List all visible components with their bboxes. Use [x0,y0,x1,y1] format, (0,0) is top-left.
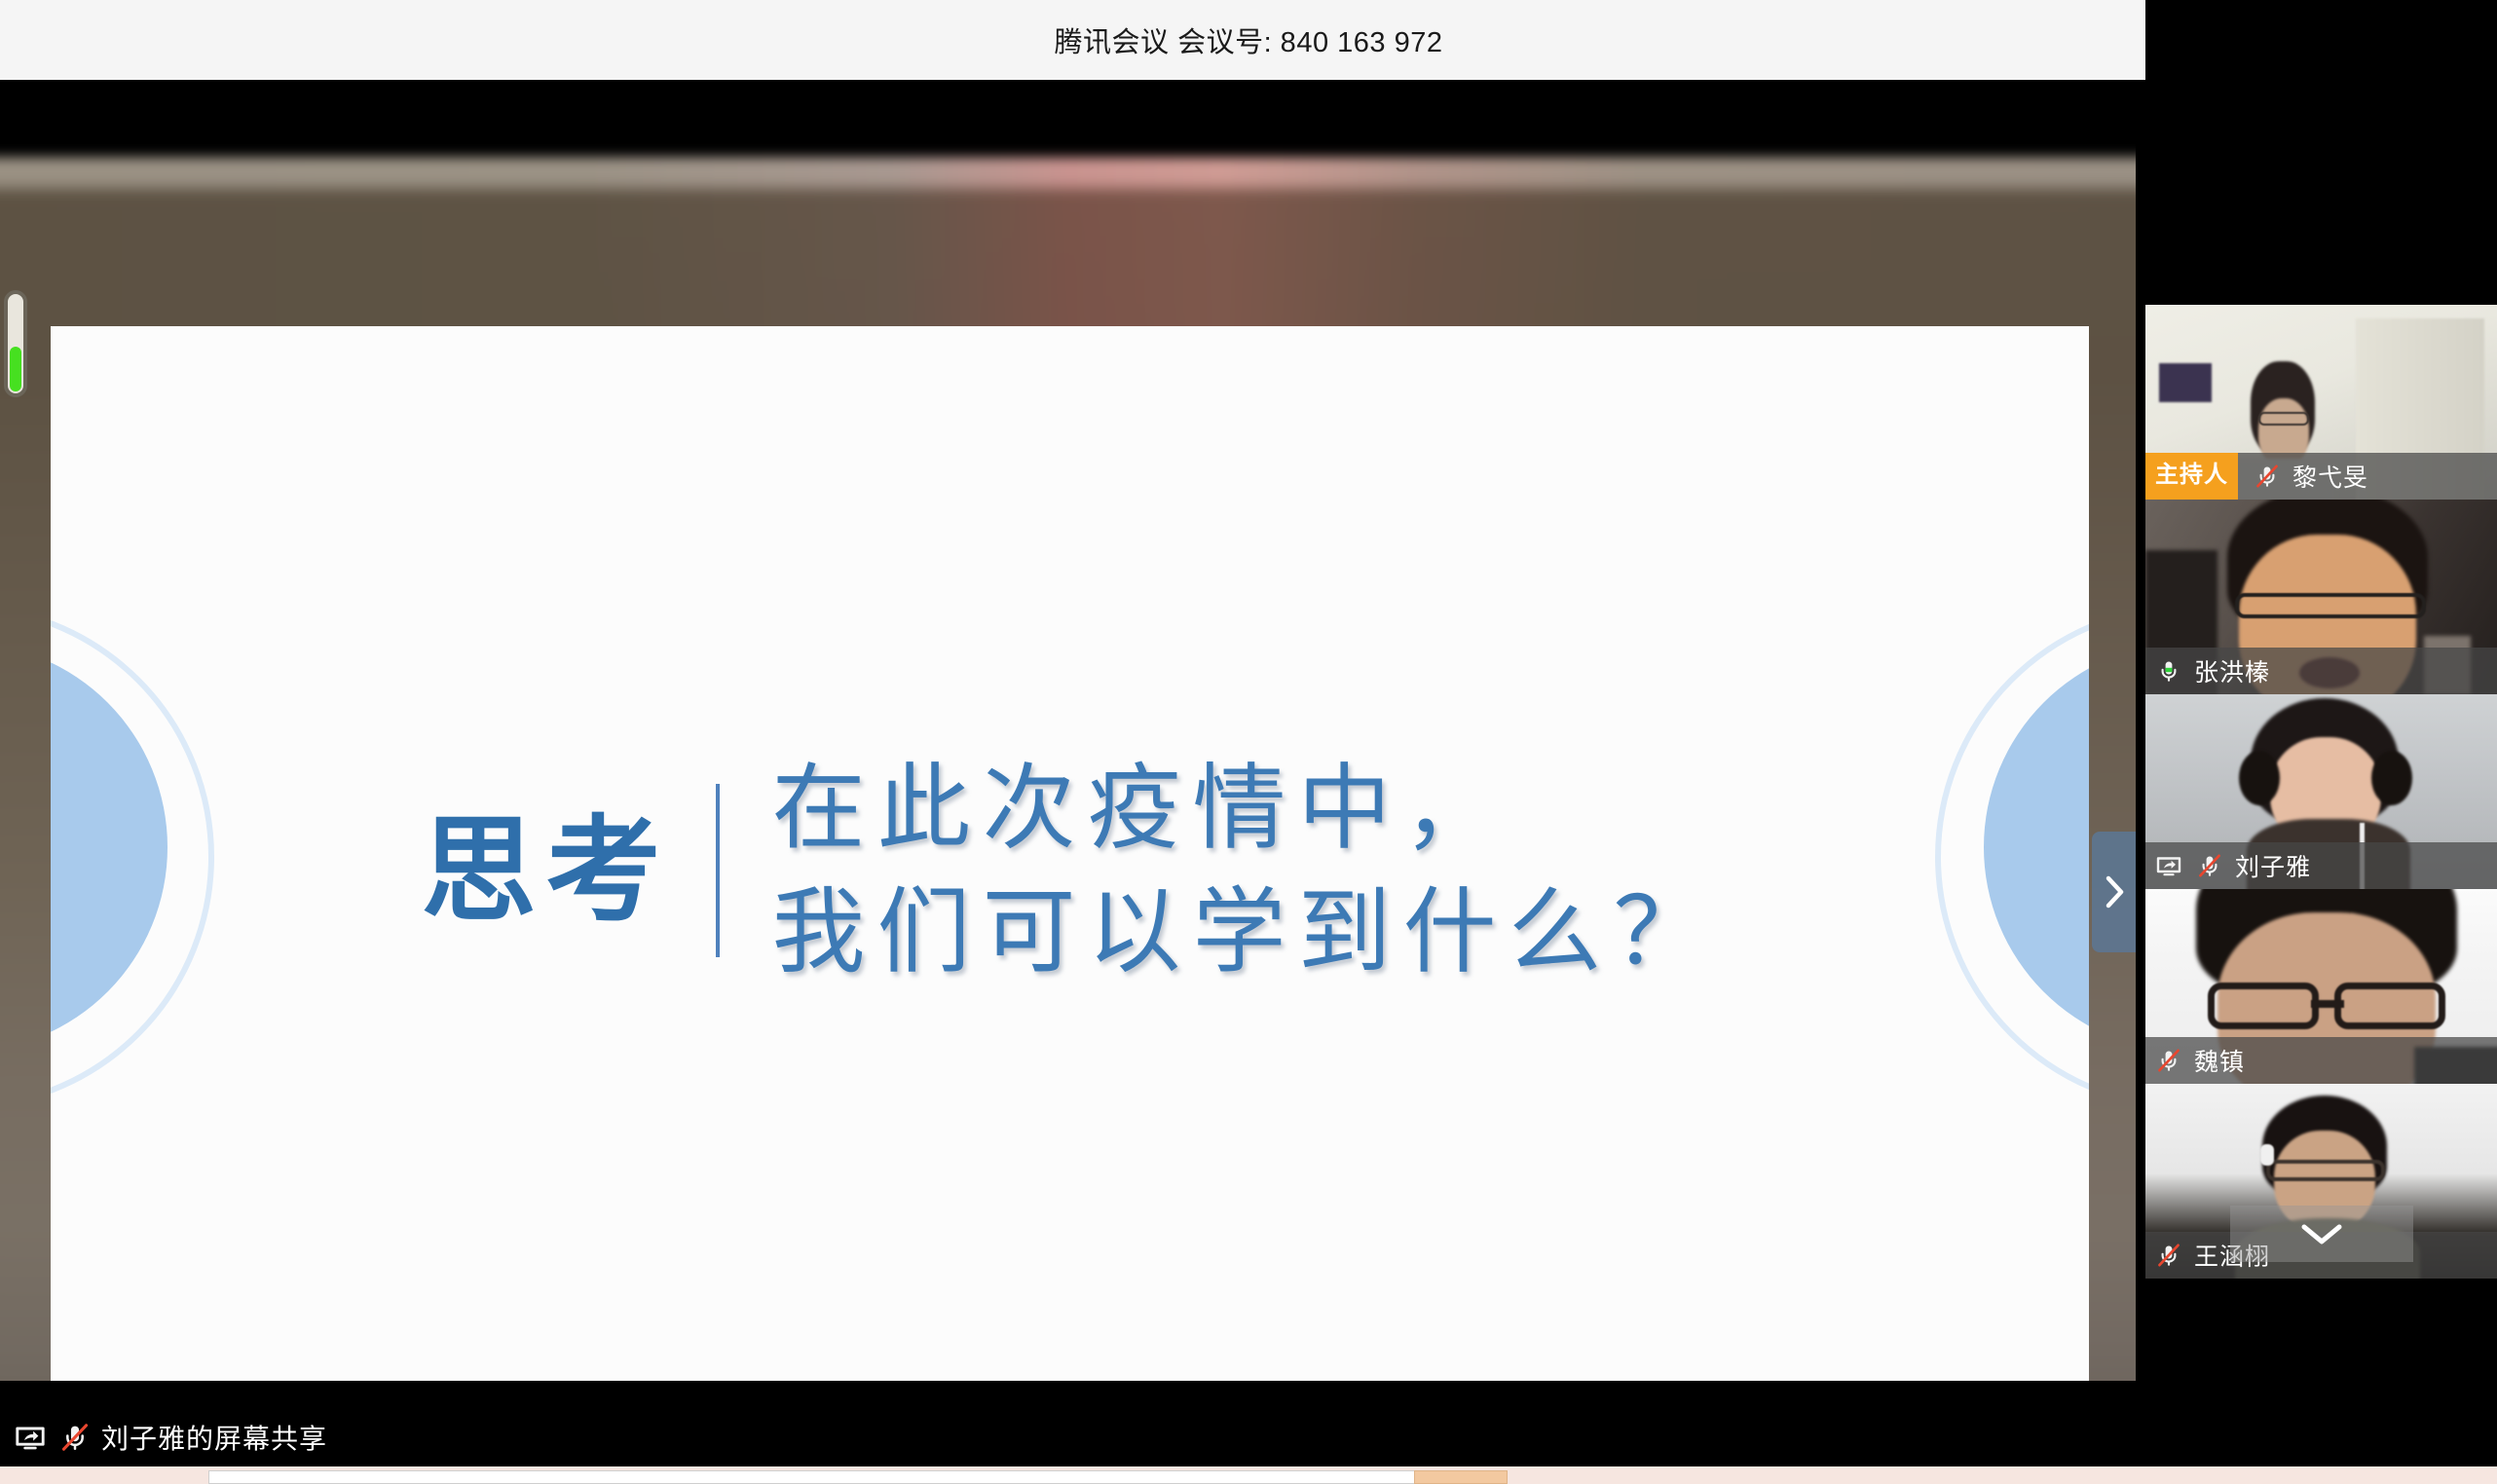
participant-info-bar: 张洪榛 [2145,648,2497,694]
shared-screen-region[interactable]: 思考 在此次疫情中， 我们可以学到什么？ [0,95,2136,1381]
share-status-text: 刘子雅的屏幕共享 [101,1418,327,1457]
desktop-sliver [0,1466,2497,1484]
desktop-window-edge [1414,1470,1508,1484]
participant-info-bar: 魏镇 [2145,1037,2497,1084]
participant-name: 黎弋旻 [2292,459,2368,494]
participant-name: 魏镇 [2194,1043,2245,1078]
mic-muted-icon [56,1419,93,1456]
mic-muted-icon [2153,1240,2184,1271]
desktop-window-edge [208,1470,1422,1484]
mic-muted-icon [2252,461,2283,492]
level-meter [4,290,27,397]
chevron-right-icon [2100,871,2129,913]
slide-divider [716,784,720,957]
participant-info-bar: 刘子雅 [2145,842,2497,889]
participant-sidebar[interactable]: 主持人 黎弋旻 [2145,0,2497,1404]
participant-thumbnail[interactable]: 张洪榛 [2145,500,2497,694]
screen-share-icon [12,1419,49,1456]
slide-content-area: 思考 在此次疫情中， 我们可以学到什么？ [51,326,2089,1381]
scroll-down-button[interactable] [2230,1206,2413,1262]
slide-question-text: 在此次疫情中， 我们可以学到什么？ [772,747,1719,993]
mic-muted-icon [2194,850,2225,881]
participant-thumbnail[interactable]: 刘子雅 [2145,694,2497,889]
slide-kicker-text: 思考 [421,813,715,928]
mic-muted-icon [2153,1045,2184,1076]
level-meter-fill [10,347,21,391]
participant-thumbnail[interactable]: 主持人 黎弋旻 [2145,305,2497,500]
window-title: 腾讯会议 会议号: 840 163 972 [1055,19,1443,60]
participant-info-bar: 主持人 黎弋旻 [2145,453,2497,500]
next-slide-button[interactable] [2092,832,2136,952]
participant-thumbnail[interactable]: 魏镇 [2145,889,2497,1084]
participant-name: 刘子雅 [2235,848,2311,883]
mic-active-icon [2153,655,2184,686]
host-badge: 主持人 [2145,453,2238,500]
screen-share-icon [2153,850,2184,881]
participant-name: 张洪榛 [2194,653,2270,688]
chevron-down-icon [2296,1219,2347,1248]
presentation-slide: 思考 在此次疫情中， 我们可以学到什么？ [51,326,2089,1381]
share-status-bar: 刘子雅的屏幕共享 [0,1408,2497,1466]
title-bar: 腾讯会议 会议号: 840 163 972 [0,0,2497,80]
